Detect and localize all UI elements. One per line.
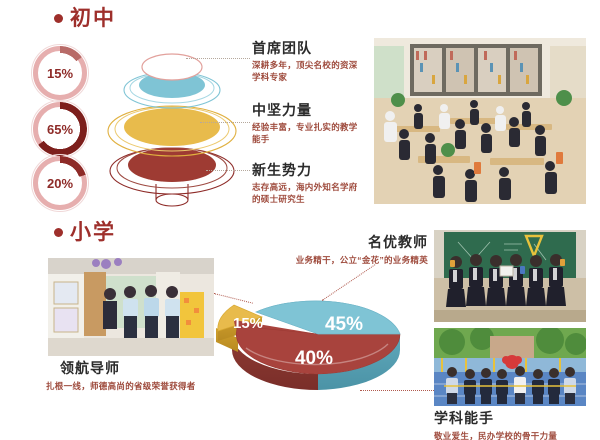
corridor-photo-art — [48, 258, 214, 356]
playground-photo-art — [434, 328, 586, 406]
leader-line-new — [206, 170, 250, 171]
ring-center: 20% — [40, 163, 80, 203]
pie-label-45: 45% — [325, 314, 363, 335]
pie-chart-svg: 45% 40% 15% — [202, 272, 430, 396]
item-title: 新生势力 — [252, 162, 364, 178]
section-title-primary-school: 小学 — [70, 222, 116, 243]
caption-title: 名优教师 — [236, 232, 428, 252]
caption-desc: 敬业爱生，民办学校的骨干力量 — [434, 430, 600, 440]
corridor-group-photo — [48, 258, 214, 356]
caption-star-teacher: 名优教师 业务精干，公立“金花”的业务精英 — [236, 232, 428, 266]
library-photo-art — [374, 38, 586, 204]
ring-center: 15% — [40, 53, 80, 93]
ring-percent-label: 15% — [47, 66, 73, 81]
pie-label-40: 40% — [295, 348, 333, 369]
leader-line-core — [200, 122, 250, 123]
caption-desc: 扎根一线，师德高尚的省级荣誉获得者 — [46, 380, 216, 392]
text-block-core-force: 中坚力量 经验丰富，专业扎实的教学能手 — [252, 102, 364, 146]
caption-subject-expert: 学科能手 敬业爱生，民办学校的骨干力量 — [434, 408, 600, 440]
bullet-dot-icon — [54, 14, 63, 23]
item-desc: 深耕多年，顶尖名校的资深学科专家 — [252, 59, 364, 84]
donut-ring-20: 20% — [33, 156, 87, 210]
donut-ring-65: 65% — [33, 102, 87, 156]
text-block-chief-team: 首席团队 深耕多年，顶尖名校的资深学科专家 — [252, 40, 364, 84]
text-block-new-force: 新生势力 志存高远，海内外知名学府的硕士研究生 — [252, 162, 364, 206]
ring-percent-label: 20% — [47, 176, 73, 191]
playground-group-photo — [434, 328, 586, 406]
ring-center: 65% — [40, 109, 80, 149]
item-desc: 志存高远，海内外知名学府的硕士研究生 — [252, 181, 364, 206]
leader-line-chief — [186, 58, 250, 59]
ring-percent-label: 65% — [47, 122, 73, 137]
library-group-photo — [374, 38, 586, 204]
caption-desc: 业务精干，公立“金花”的业务精英 — [236, 254, 428, 266]
classroom-photo-art — [434, 230, 586, 322]
section-header-primary-school: 小学 — [54, 222, 116, 243]
section-title-middle-school: 初中 — [70, 8, 116, 29]
donut-ring-15: 15% — [33, 46, 87, 100]
item-title: 中坚力量 — [252, 102, 364, 118]
classroom-group-photo — [434, 230, 586, 322]
leader-line-subject-expert — [360, 390, 434, 391]
tiered-bowl-diagram — [98, 34, 246, 214]
section-header-middle-school: 初中 — [54, 8, 116, 29]
pie-chart-primary-school: 45% 40% 15% — [202, 272, 430, 396]
item-desc: 经验丰富，专业扎实的教学能手 — [252, 121, 364, 146]
bowl-svg — [98, 34, 246, 214]
caption-title: 学科能手 — [434, 408, 600, 428]
pie-label-15: 15% — [233, 315, 263, 332]
bullet-dot-icon — [54, 228, 63, 237]
infographic-page: 初中 15% 65% 20% — [0, 0, 600, 440]
caption-title: 领航导师 — [60, 358, 216, 378]
item-title: 首席团队 — [252, 40, 364, 56]
caption-nav-mentor: 领航导师 扎根一线，师德高尚的省级荣誉获得者 — [46, 358, 216, 392]
